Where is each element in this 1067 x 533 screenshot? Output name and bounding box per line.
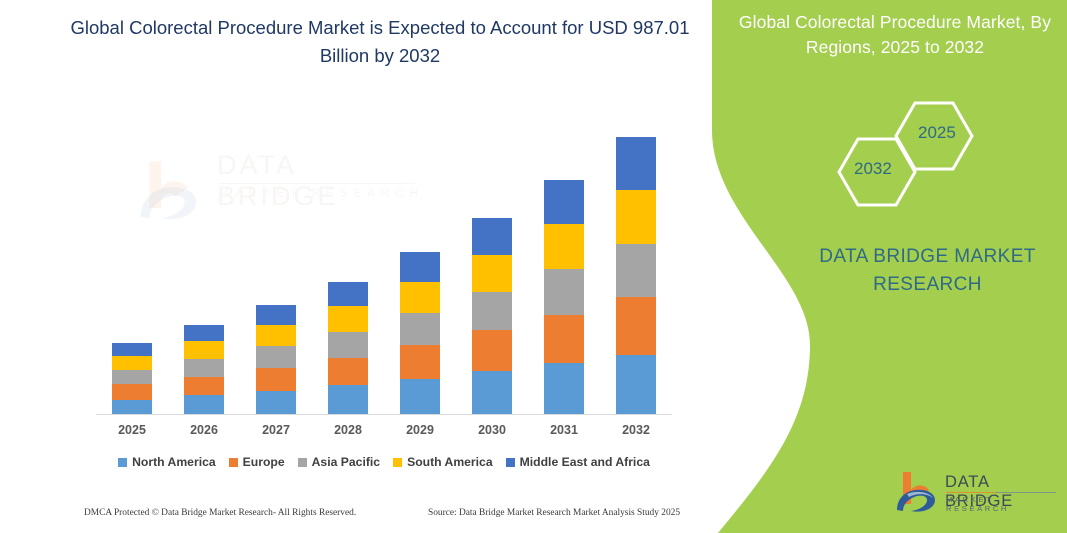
bar-segment-middle-east-and-africa [184, 325, 224, 341]
bar-segment-middle-east-and-africa [328, 282, 368, 306]
bar-segment-europe [328, 358, 368, 385]
bar-2026 [184, 325, 224, 415]
logo-mark-icon [893, 470, 941, 516]
x-label-2028: 2028 [318, 423, 378, 437]
bar-segment-north-america [472, 371, 512, 415]
bar-segment-north-america [184, 395, 224, 415]
bar-segment-north-america [328, 385, 368, 415]
bar-segment-asia-pacific [328, 332, 368, 358]
bar-segment-north-america [112, 400, 152, 415]
bar-segment-europe [184, 377, 224, 396]
bar-segment-middle-east-and-africa [616, 137, 656, 190]
legend-label: Europe [243, 455, 285, 469]
bar-segment-europe [472, 330, 512, 371]
bar-segment-asia-pacific [184, 359, 224, 377]
legend-label: North America [132, 455, 216, 469]
bar-2028 [328, 282, 368, 415]
bar-2027 [256, 305, 296, 415]
bar-segment-middle-east-and-africa [472, 218, 512, 254]
bar-segment-europe [112, 384, 152, 399]
logo-divider [946, 492, 1056, 493]
footer-source: Source: Data Bridge Market Research Mark… [428, 508, 680, 518]
bar-segment-south-america [184, 341, 224, 359]
bar-segment-asia-pacific [472, 292, 512, 330]
brand-heading: DATA BRIDGE MARKET RESEARCH [790, 243, 1065, 298]
x-axis-tick-labels: 20252026202720282029203020312032 [96, 423, 672, 443]
bar-segment-europe [544, 315, 584, 363]
x-label-2032: 2032 [606, 423, 666, 437]
x-label-2031: 2031 [534, 423, 594, 437]
bar-segment-asia-pacific [400, 313, 440, 345]
legend-swatch-icon [118, 458, 127, 467]
bar-segment-europe [400, 345, 440, 379]
chart-legend: North AmericaEuropeAsia PacificSouth Ame… [96, 455, 672, 469]
stacked-bar-chart [96, 120, 672, 415]
bar-segment-asia-pacific [616, 244, 656, 298]
bar-segment-asia-pacific [256, 346, 296, 368]
x-label-2027: 2027 [246, 423, 306, 437]
panel-title: Global Colorectal Procedure Market, By R… [735, 10, 1055, 61]
bar-segment-south-america [256, 325, 296, 346]
bar-segment-north-america [256, 391, 296, 415]
x-label-2026: 2026 [174, 423, 234, 437]
legend-label: Asia Pacific [312, 455, 380, 469]
legend-label: Middle East and Africa [520, 455, 650, 469]
legend-item-europe[interactable]: Europe [229, 455, 285, 469]
bar-segment-europe [256, 368, 296, 391]
x-label-2029: 2029 [390, 423, 450, 437]
footer-copyright: DMCA Protected © Data Bridge Market Rese… [84, 508, 356, 518]
bar-segment-south-america [616, 190, 656, 244]
legend-label: South America [407, 455, 493, 469]
bar-segment-middle-east-and-africa [256, 305, 296, 325]
legend-swatch-icon [229, 458, 238, 467]
bar-segment-middle-east-and-africa [112, 343, 152, 356]
bar-segment-south-america [112, 356, 152, 370]
bar-segment-north-america [616, 355, 656, 415]
bar-2031 [544, 180, 584, 415]
hexagon-2032-label: 2032 [854, 159, 892, 179]
bar-segment-middle-east-and-africa [544, 180, 584, 224]
bar-2029 [400, 252, 440, 415]
legend-item-asia-pacific[interactable]: Asia Pacific [298, 455, 380, 469]
bar-segment-asia-pacific [112, 370, 152, 384]
bar-2030 [472, 218, 512, 415]
logo-text-sub: MARKET RESEARCH [946, 495, 1058, 513]
legend-swatch-icon [506, 458, 515, 467]
bar-segment-middle-east-and-africa [400, 252, 440, 282]
legend-swatch-icon [393, 458, 402, 467]
legend-item-middle-east-and-africa[interactable]: Middle East and Africa [506, 455, 650, 469]
bar-segment-south-america [328, 306, 368, 331]
infographic-page: Global Colorectal Procedure Market, By R… [0, 0, 1067, 533]
bar-segment-south-america [472, 255, 512, 292]
bar-segment-asia-pacific [544, 269, 584, 315]
bar-2025 [112, 343, 152, 415]
bar-segment-north-america [400, 379, 440, 415]
x-axis-line [96, 414, 672, 415]
bar-segment-north-america [544, 363, 584, 415]
data-bridge-logo: DATA BRIDGE MARKET RESEARCH [893, 470, 1058, 518]
legend-swatch-icon [298, 458, 307, 467]
legend-item-south-america[interactable]: South America [393, 455, 493, 469]
x-label-2025: 2025 [102, 423, 162, 437]
page-title: Global Colorectal Procedure Market is Ex… [60, 14, 700, 70]
bar-segment-south-america [400, 282, 440, 313]
hexagon-2025-label: 2025 [918, 123, 956, 143]
bar-2032 [616, 137, 656, 415]
hexagon-pair: 2025 2032 [810, 95, 1040, 210]
bar-segment-europe [616, 297, 656, 354]
x-label-2030: 2030 [462, 423, 522, 437]
legend-item-north-america[interactable]: North America [118, 455, 216, 469]
bar-segment-south-america [544, 224, 584, 269]
